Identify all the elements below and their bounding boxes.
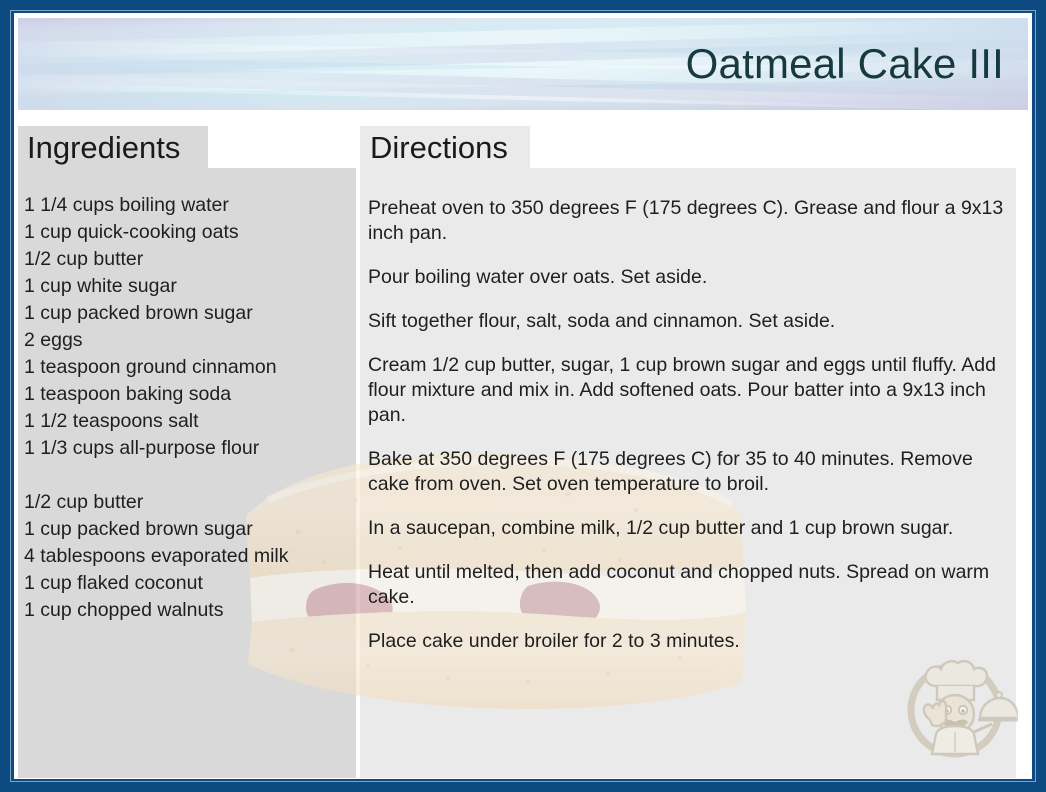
ingredient-item: 1 teaspoon ground cinnamon bbox=[24, 354, 354, 381]
direction-step: Sift together flour, salt, soda and cinn… bbox=[368, 309, 1006, 334]
directions-heading: Directions bbox=[370, 132, 508, 163]
direction-step: Bake at 350 degrees F (175 degrees C) fo… bbox=[368, 447, 1006, 497]
ingredient-item: 1 1/2 teaspoons salt bbox=[24, 408, 354, 435]
direction-step: Preheat oven to 350 degrees F (175 degre… bbox=[368, 196, 1006, 246]
ingredient-item: 1/2 cup butter bbox=[24, 489, 354, 516]
direction-step: In a saucepan, combine milk, 1/2 cup but… bbox=[368, 516, 1006, 541]
direction-step: Heat until melted, then add coconut and … bbox=[368, 560, 1006, 610]
ingredient-item: 1 1/4 cups boiling water bbox=[24, 192, 354, 219]
header-banner: Oatmeal Cake III bbox=[18, 18, 1028, 110]
directions-list: Preheat oven to 350 degrees F (175 degre… bbox=[368, 196, 1006, 673]
recipe-title: Oatmeal Cake III bbox=[686, 40, 1004, 88]
ingredient-item: 1/2 cup butter bbox=[24, 246, 354, 273]
ingredient-item: 1 cup packed brown sugar bbox=[24, 516, 354, 543]
ingredient-item: 1 1/3 cups all-purpose flour bbox=[24, 435, 354, 462]
ingredient-item: 1 cup flaked coconut bbox=[24, 570, 354, 597]
direction-step: Cream 1/2 cup butter, sugar, 1 cup brown… bbox=[368, 353, 1006, 428]
ingredient-item: 1 cup white sugar bbox=[24, 273, 354, 300]
direction-step: Place cake under broiler for 2 to 3 minu… bbox=[368, 629, 1006, 654]
ingredient-item: 2 eggs bbox=[24, 327, 354, 354]
ingredient-item: 1 teaspoon baking soda bbox=[24, 381, 354, 408]
ingredients-heading: Ingredients bbox=[27, 132, 180, 163]
ingredient-item: 1 cup quick-cooking oats bbox=[24, 219, 354, 246]
ingredient-item: 1 cup chopped walnuts bbox=[24, 597, 354, 624]
ingredient-item: 1 cup packed brown sugar bbox=[24, 300, 354, 327]
ingredient-item: 4 tablespoons evaporated milk bbox=[24, 543, 354, 570]
directions-tab: Directions bbox=[360, 126, 530, 168]
recipe-card: Oatmeal Cake III Ingredients Directions bbox=[0, 0, 1046, 792]
ingredients-tab: Ingredients bbox=[18, 126, 208, 168]
direction-step: Pour boiling water over oats. Set aside. bbox=[368, 265, 1006, 290]
ingredients-group-gap bbox=[24, 462, 354, 489]
ingredients-list: 1 1/4 cups boiling water1 cup quick-cook… bbox=[24, 192, 354, 624]
